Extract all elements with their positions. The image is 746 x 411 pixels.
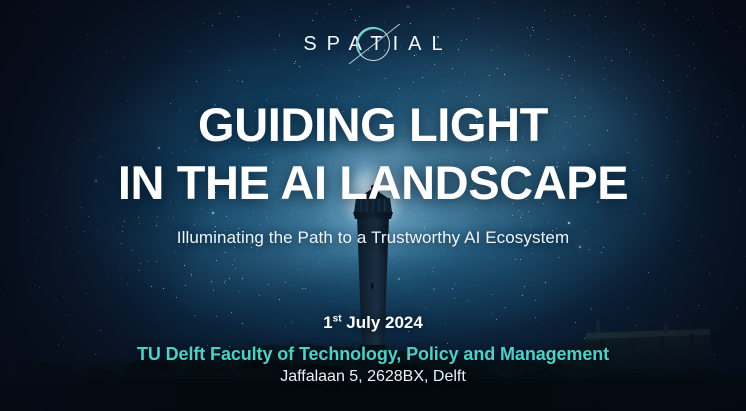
brand-name: SPATIAL [293,33,452,56]
event-date-rest: July 2024 [342,313,423,332]
title-line-1: GUIDING LIGHT [198,98,548,151]
title-line-2: IN THE AI LANDSCAPE [0,154,746,212]
brand-logo: SPATIAL [0,24,746,64]
event-date-day: 1 [323,313,332,332]
brand-logo-wrap: SPATIAL [293,24,452,64]
event-date: 1st July 2024 [0,313,746,333]
event-venue: TU Delft Faculty of Technology, Policy a… [0,344,746,365]
poster-content: SPATIAL GUIDING LIGHT IN THE AI LANDSCAP… [0,0,746,411]
poster-subtitle: Illuminating the Path to a Trustworthy A… [0,228,746,248]
event-poster: SPATIAL GUIDING LIGHT IN THE AI LANDSCAP… [0,0,746,411]
poster-title: GUIDING LIGHT IN THE AI LANDSCAPE [0,96,746,212]
event-address: Jaffalaan 5, 2628BX, Delft [0,368,746,386]
event-date-ordinal: st [333,313,342,324]
